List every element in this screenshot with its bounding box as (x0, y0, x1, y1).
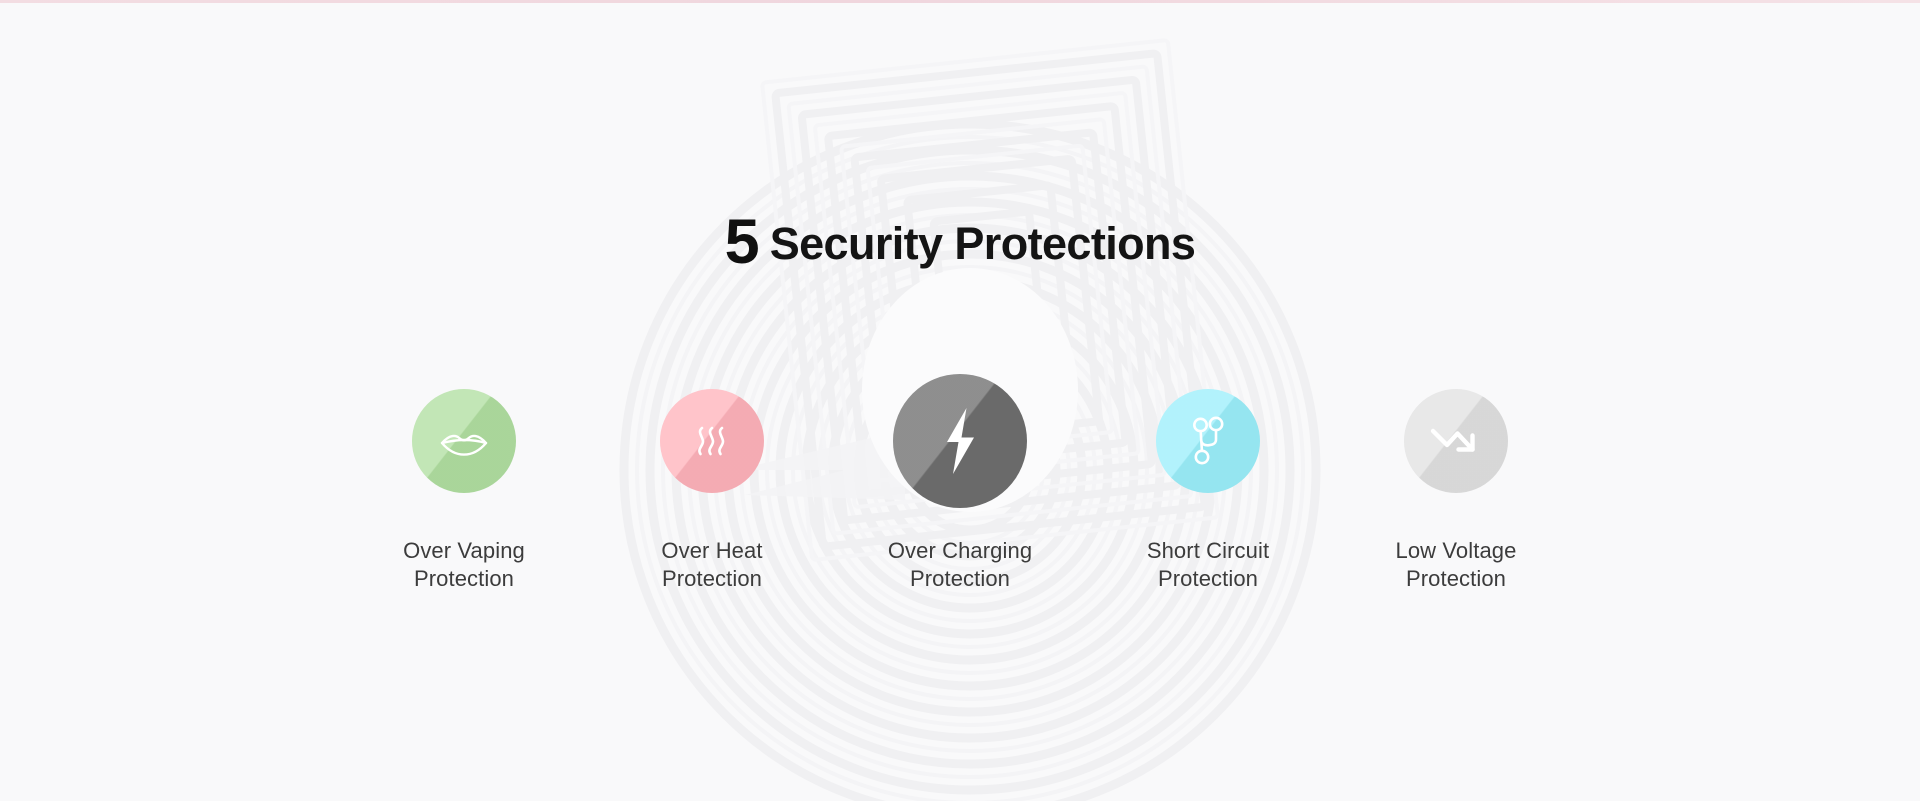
protection-label-over-heat: Over Heat Protection (661, 537, 762, 593)
label-line-2: Protection (1147, 565, 1269, 593)
trend-down-arrow-icon (1404, 389, 1508, 493)
icon-wrap-low-voltage (1404, 368, 1508, 514)
protection-item-short-circuit[interactable]: Short Circuit Protection (1084, 368, 1332, 593)
icon-wrap-over-charging (893, 368, 1027, 514)
label-line-2: Protection (661, 565, 762, 593)
protections-list: Over Vaping Protection Over Heat Protect… (340, 368, 1580, 593)
protection-label-over-charging: Over Charging Protection (888, 537, 1032, 593)
heat-waves-icon (660, 389, 764, 493)
protection-label-low-voltage: Low Voltage Protection (1396, 537, 1517, 593)
label-line-1: Low Voltage (1396, 538, 1517, 563)
label-line-2: Protection (1396, 565, 1517, 593)
top-accent-rule (0, 0, 1920, 3)
label-line-1: Over Charging (888, 538, 1032, 563)
security-protections-section: 5Security Protections Over Vaping Protec… (0, 0, 1920, 801)
lips-icon (412, 389, 516, 493)
protection-item-over-vaping[interactable]: Over Vaping Protection (340, 368, 588, 593)
protection-count: 5 (725, 207, 759, 277)
protection-label-over-vaping: Over Vaping Protection (403, 537, 525, 593)
icon-wrap-short-circuit (1156, 368, 1260, 514)
page-title-text: Security Protections (770, 218, 1196, 269)
protection-item-over-heat[interactable]: Over Heat Protection (588, 368, 836, 593)
label-line-2: Protection (403, 565, 525, 593)
circuit-branch-icon (1156, 389, 1260, 493)
page-title: 5Security Protections (0, 206, 1920, 278)
icon-wrap-over-vaping (412, 368, 516, 514)
label-line-1: Over Vaping (403, 538, 525, 563)
protection-item-over-charging[interactable]: Over Charging Protection (836, 368, 1084, 593)
lightning-bolt-icon (893, 374, 1027, 508)
label-line-2: Protection (888, 565, 1032, 593)
protection-label-short-circuit: Short Circuit Protection (1147, 537, 1269, 593)
protection-item-low-voltage[interactable]: Low Voltage Protection (1332, 368, 1580, 593)
label-line-1: Over Heat (661, 538, 762, 563)
icon-wrap-over-heat (660, 368, 764, 514)
label-line-1: Short Circuit (1147, 538, 1269, 563)
